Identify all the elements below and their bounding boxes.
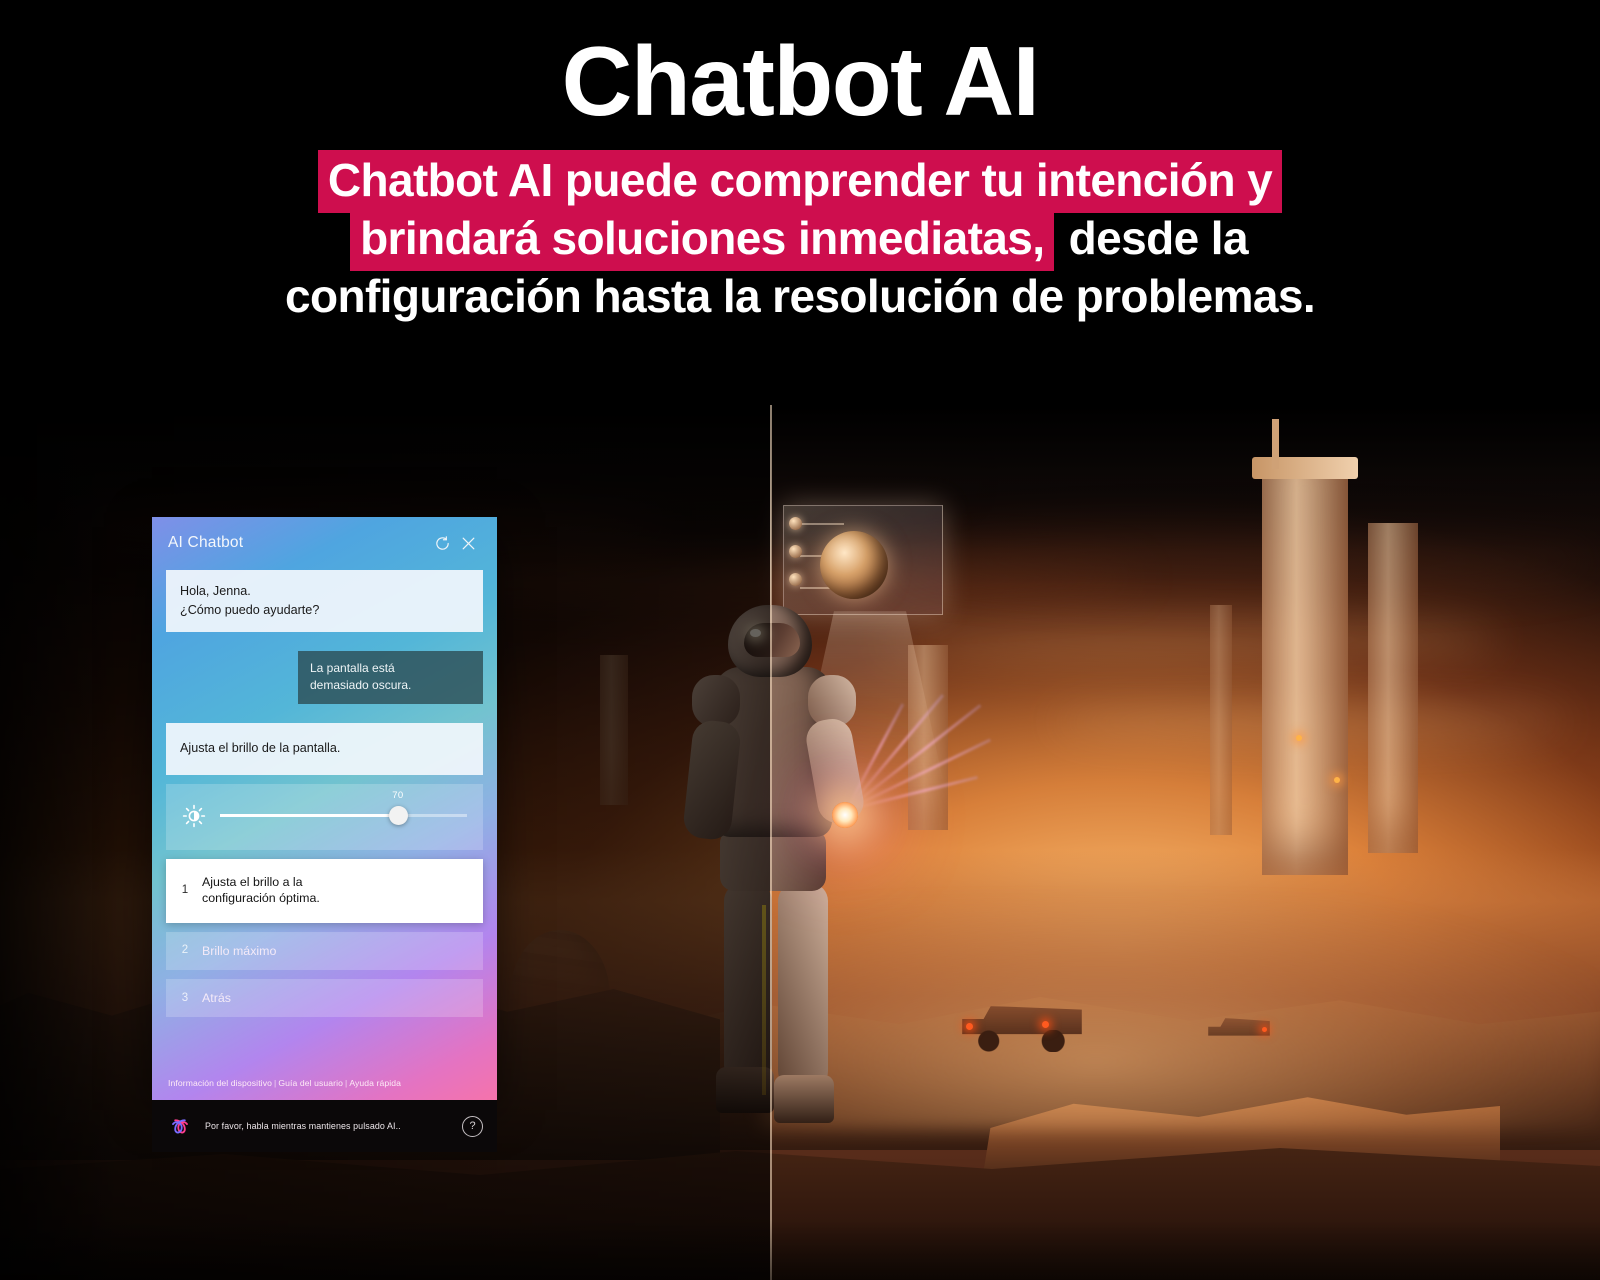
dust-haze [760, 900, 1600, 1130]
option-number: 1 [180, 883, 190, 898]
glowing-orb-icon [832, 802, 858, 828]
chatbot-message-list: Hola, Jenna. ¿Cómo puedo ayudarte? La pa… [166, 569, 483, 1078]
slider-thumb[interactable] [389, 806, 408, 825]
help-question-icon[interactable]: ? [462, 1116, 483, 1137]
chat-message-bot: Ajusta el brillo de la pantalla. [166, 723, 483, 775]
close-icon[interactable] [455, 530, 481, 556]
chatbot-title: AI Chatbot [168, 534, 429, 552]
chat-message-line: demasiado oscura. [310, 677, 471, 694]
sci-fi-tower [1210, 605, 1232, 835]
tower-cap [1252, 457, 1358, 479]
chatbot-option-2[interactable]: 2 Brillo máximo [166, 932, 483, 970]
sci-fi-tower [1262, 475, 1348, 875]
brightness-slider[interactable]: 70 [220, 805, 467, 827]
chat-message-line: Ajusta el brillo de la pantalla. [180, 739, 469, 758]
subtitle-line-2: brindará soluciones inmediatas, desde la [150, 210, 1450, 268]
subtitle-highlight-1: Chatbot AI puede comprender tu intención… [318, 150, 1282, 213]
chatbot-header: AI Chatbot [166, 517, 483, 569]
link-separator: | [345, 1078, 347, 1088]
option-label: Ajusta el brillo a la configuración ópti… [202, 874, 320, 907]
link-device-info[interactable]: Información del dispositivo [168, 1078, 272, 1088]
link-user-guide[interactable]: Guía del usuario [278, 1078, 343, 1088]
chat-message-user: La pantalla está demasiado oscura. [298, 651, 483, 704]
tower-light [1334, 777, 1340, 783]
header-section: Chatbot AI Chatbot AI puede comprender t… [0, 0, 1600, 405]
voice-prompt-bar: Por favor, habla mientras mantienes puls… [152, 1100, 497, 1152]
subtitle-highlight-2: brindará soluciones inmediatas, [350, 208, 1054, 271]
astronaut-leg-right [778, 883, 828, 1089]
link-separator: | [274, 1078, 276, 1088]
option-label-line: Ajusta el brillo a la [202, 874, 320, 890]
option-number: 2 [180, 943, 190, 958]
voice-prompt-text: Por favor, habla mientras mantienes puls… [205, 1121, 451, 1131]
tower-antenna [1272, 419, 1279, 469]
ai-chatbot-panel: AI Chatbot Hola, Jenna. ¿Cómo puedo [152, 517, 497, 1100]
sci-fi-tower [1368, 523, 1418, 853]
option-label-line: configuración óptima. [202, 890, 320, 906]
chat-message-line: La pantalla está [310, 660, 471, 677]
ai-knot-logo-icon [166, 1112, 194, 1140]
subtitle-line-3: configuración hasta la resolución de pro… [150, 268, 1450, 326]
chatbot-footer-links: Información del dispositivo|Guía del usu… [166, 1078, 483, 1100]
tower-light [1296, 735, 1302, 741]
subtitle-plain-2: configuración hasta la resolución de pro… [283, 266, 1317, 329]
chatbot-option-3[interactable]: 3 Atrás [166, 979, 483, 1017]
hologram-dot [789, 517, 802, 530]
brightness-slider-card: 70 [166, 784, 483, 850]
page-title: Chatbot AI [0, 30, 1600, 134]
option-number: 3 [180, 991, 190, 1006]
truck-lamp [1262, 1027, 1267, 1032]
option-label: Brillo máximo [202, 943, 276, 959]
astronaut-boot-right [774, 1075, 834, 1123]
refresh-icon[interactable] [429, 530, 455, 556]
truck-lamp [1042, 1021, 1049, 1028]
chatbot-option-1[interactable]: 1 Ajusta el brillo a la configuración óp… [166, 859, 483, 923]
slider-value-label: 70 [392, 790, 403, 801]
mining-truck-wheels [970, 1030, 1074, 1052]
brightness-comparison-divider [770, 405, 772, 1280]
hologram-dot [789, 573, 802, 586]
option-label: Atrás [202, 990, 231, 1006]
chat-message-line: ¿Cómo puedo ayudarte? [180, 601, 469, 620]
hologram-line [800, 523, 844, 525]
hologram-sphere [820, 531, 888, 599]
page-root: Chatbot AI Chatbot AI puede comprender t… [0, 0, 1600, 1280]
truck-lamp [966, 1023, 973, 1030]
hero-scene: AI Chatbot Hola, Jenna. ¿Cómo puedo [0, 405, 1600, 1280]
slider-fill [220, 814, 398, 817]
brightness-sun-icon [182, 804, 206, 828]
subtitle-line-1: Chatbot AI puede comprender tu intención… [150, 152, 1450, 210]
link-quick-help[interactable]: Ayuda rápida [349, 1078, 401, 1088]
subtitle-plain-1: desde la [1054, 208, 1249, 271]
chat-message-bot: Hola, Jenna. ¿Cómo puedo ayudarte? [166, 570, 483, 632]
chat-message-line: Hola, Jenna. [180, 582, 469, 601]
subtitle-block: Chatbot AI puede comprender tu intención… [0, 152, 1600, 326]
hologram-dot [789, 545, 802, 558]
